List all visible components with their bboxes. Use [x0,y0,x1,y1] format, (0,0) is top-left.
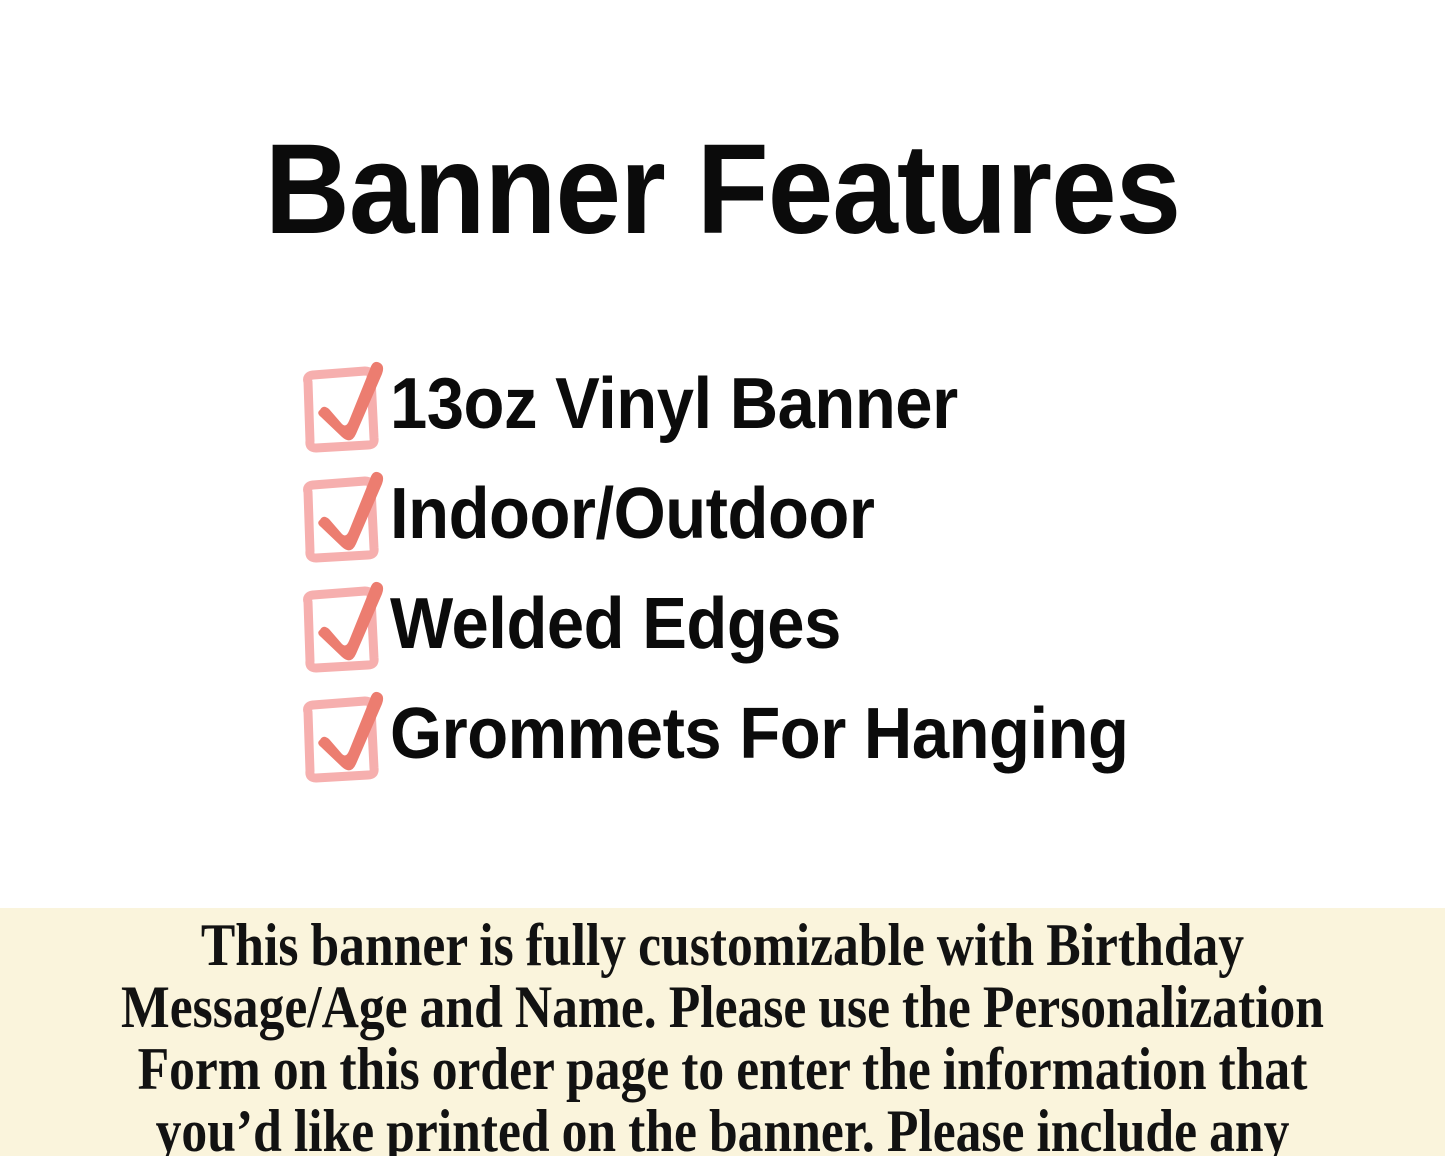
checked-checkbox-icon [296,352,392,464]
list-item: Indoor/Outdoor [296,462,1396,572]
list-item-label: Welded Edges [390,588,841,660]
customization-note-text: This banner is fully customizable with B… [106,914,1338,1156]
checked-checkbox-icon [296,462,392,574]
checked-checkbox-icon [296,682,392,794]
list-item: 13oz Vinyl Banner [296,352,1396,462]
banner-features-graphic: Banner Features 13oz Vinyl Banner Indoor… [0,0,1445,1156]
banner-features-list: 13oz Vinyl Banner Indoor/Outdoor Welded … [296,352,1396,792]
customization-note-panel: This banner is fully customizable with B… [0,908,1445,1156]
list-item: Welded Edges [296,572,1396,682]
list-item-label: Grommets For Hanging [390,698,1128,770]
checked-checkbox-icon [296,572,392,684]
list-item: Grommets For Hanging [296,682,1396,792]
list-item-label: 13oz Vinyl Banner [390,368,958,440]
list-item-label: Indoor/Outdoor [390,478,874,550]
page-title: Banner Features [58,126,1387,254]
